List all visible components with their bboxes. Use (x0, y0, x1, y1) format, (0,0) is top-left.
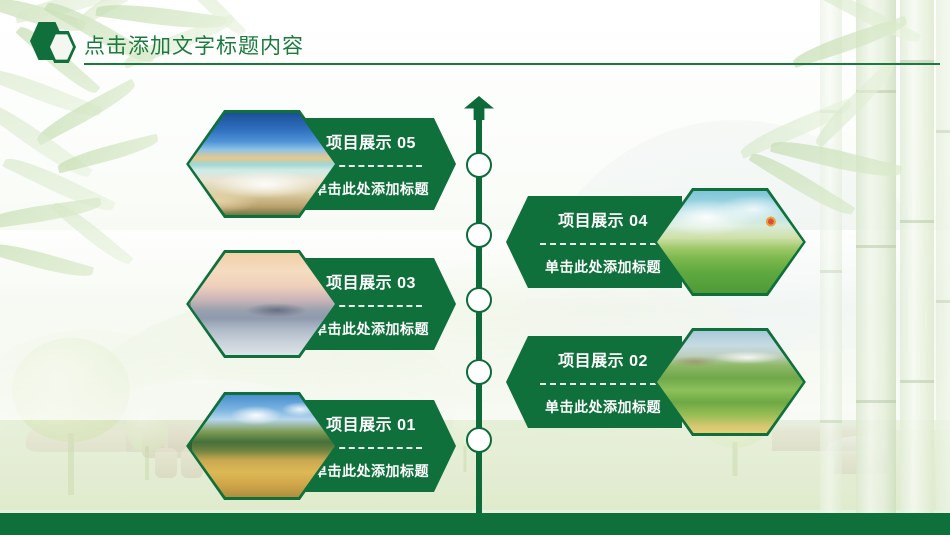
bamboo-stalk (936, 0, 950, 530)
slide-canvas: 点击添加文字标题内容 项目展示 05 单击此处添加标题 项目展示 04 单击此处… (0, 0, 950, 535)
card-04[interactable]: 项目展示 04 单击此处添加标题 (506, 188, 806, 296)
card-03[interactable]: 项目展示 03 单击此处添加标题 (186, 250, 456, 358)
card-subtitle: 单击此处添加标题 (506, 397, 682, 417)
timeline-node[interactable] (466, 359, 492, 385)
card-title: 项目展示 04 (506, 207, 682, 231)
tree (126, 400, 168, 452)
bamboo-leaf (0, 197, 103, 230)
card-subtitle: 单击此处添加标题 (304, 461, 456, 481)
bamboo-leaf (33, 79, 139, 146)
bamboo-leaf (770, 134, 902, 183)
slide-header: 点击添加文字标题内容 (0, 0, 950, 72)
bamboo-leaf (737, 98, 855, 159)
card-subtitle: 单击此处添加标题 (506, 257, 682, 277)
card-subtitle: 单击此处添加标题 (304, 319, 456, 339)
timeline-axis (474, 96, 484, 516)
bamboo-leaf (0, 94, 93, 185)
footer-bar (0, 513, 950, 535)
card-title: 项目展示 02 (506, 347, 682, 371)
tree (12, 338, 130, 442)
haystack (26, 416, 132, 452)
title-underline (84, 63, 940, 65)
bamboo-leaf (2, 151, 116, 218)
bamboo-stalk (856, 0, 896, 530)
timeline-node[interactable] (466, 222, 492, 248)
card-02[interactable]: 项目展示 02 单击此处添加标题 (506, 328, 806, 436)
timeline-node[interactable] (466, 427, 492, 453)
bamboo-leaf (810, 60, 900, 148)
timeline-node[interactable] (466, 152, 492, 178)
card-subtitle: 单击此处添加标题 (304, 179, 456, 199)
arrow-up-icon (464, 96, 494, 120)
card-divider (540, 383, 666, 385)
bamboo-leaf (0, 237, 94, 283)
bamboo-stalk (900, 0, 934, 530)
bamboo-leaf (56, 134, 161, 174)
card-divider (540, 243, 666, 245)
bamboo-leaf (50, 197, 133, 270)
card-05[interactable]: 项目展示 05 单击此处添加标题 (186, 110, 456, 218)
timeline-node[interactable] (466, 287, 492, 313)
village-hut (826, 436, 896, 456)
card-01[interactable]: 项目展示 01 单击此处添加标题 (186, 392, 456, 500)
double-hexagon-icon (30, 22, 76, 62)
page-title: 点击添加文字标题内容 (84, 30, 304, 60)
bamboo-stalk (820, 0, 842, 530)
